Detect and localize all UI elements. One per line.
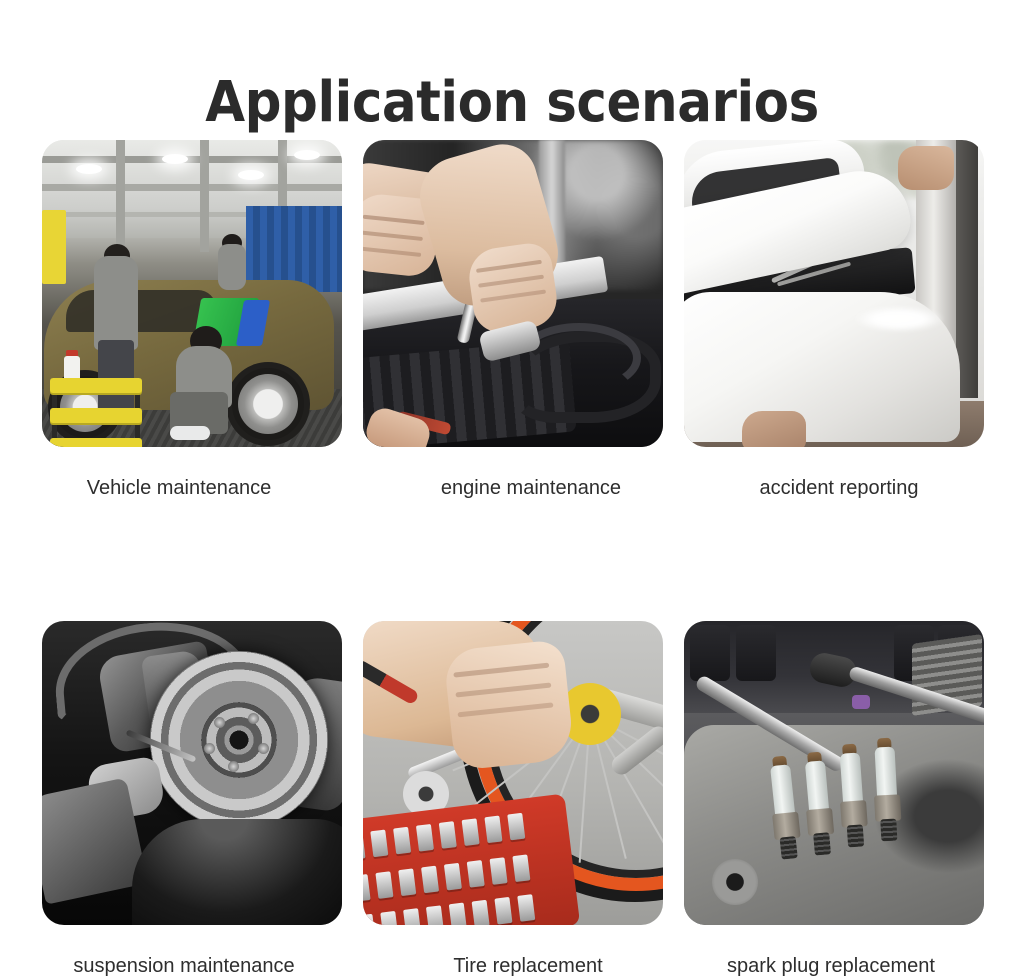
scenario-card-accident-reporting[interactable]: accident reporting — [684, 140, 984, 500]
inspector-hand-upper — [898, 146, 954, 190]
scenario-caption: spark plug replacement — [681, 954, 981, 978]
scenario-caption: Tire replacement — [378, 954, 678, 978]
technician-shoe — [170, 426, 210, 440]
spark-plug-insulator — [840, 752, 863, 803]
scenario-caption: accident reporting — [689, 476, 989, 500]
ceiling-lamp — [294, 150, 320, 160]
scenario-grid: Vehicle maintenance — [42, 140, 984, 978]
ignition-coil — [690, 625, 730, 681]
brake-disc-suspension-photo[interactable] — [42, 621, 342, 925]
ignition-coil — [736, 625, 776, 681]
page-title: Application scenarios — [41, 72, 983, 134]
scenario-card-tire-replacement[interactable]: Tire replacement — [363, 621, 663, 978]
wheel-lug — [258, 743, 269, 754]
wheel-lug — [214, 717, 225, 728]
spark-plug-thread — [813, 832, 831, 855]
scenario-row-2: suspension maintenance — [42, 621, 984, 978]
spark-plug-hex — [806, 808, 834, 836]
spark-plug-hex — [840, 800, 868, 828]
scenario-caption: suspension maintenance — [34, 954, 334, 978]
cart-shelf — [50, 438, 142, 447]
spark-plug-insulator — [805, 760, 829, 812]
yellow-tool-cart — [50, 378, 142, 447]
cart-shelf — [50, 378, 142, 393]
scenario-card-engine-maintenance[interactable]: engine maintenance — [363, 140, 663, 500]
spark-plug-thread — [847, 824, 864, 847]
ceiling-column — [116, 140, 125, 252]
spark-plug-thread — [780, 836, 798, 860]
scenario-card-suspension-maintenance[interactable]: suspension maintenance — [42, 621, 342, 978]
purple-connector — [852, 695, 870, 709]
scenario-card-vehicle-maintenance[interactable]: Vehicle maintenance — [42, 140, 342, 500]
shadowed-foreground — [132, 819, 342, 925]
suv-wheel — [226, 362, 310, 446]
spark-plug-insulator — [875, 747, 898, 798]
scenario-card-spark-plug-replacement[interactable]: spark plug replacement — [684, 621, 984, 978]
engine-bolt — [712, 859, 758, 905]
bit-row — [363, 809, 559, 860]
scenario-caption: Vehicle maintenance — [29, 476, 329, 500]
scenario-caption: engine maintenance — [381, 476, 681, 500]
dark-pillar-edge — [956, 140, 978, 398]
engine-ratchet-wrench-photo[interactable] — [363, 140, 663, 447]
ceiling-lamp — [76, 164, 102, 174]
scenario-row-1: Vehicle maintenance — [42, 140, 984, 500]
ceiling-lamp — [162, 154, 188, 164]
workshop-yellow-panel — [42, 210, 66, 284]
suv-window — [66, 290, 216, 332]
spark-plugs-engine-photo[interactable] — [684, 621, 984, 925]
open-hood-white-car-photo[interactable] — [684, 140, 984, 447]
inspector-hand-lower — [742, 411, 806, 447]
workshop-vehicle-maintenance-photo[interactable] — [42, 140, 342, 447]
right-hand — [443, 639, 575, 771]
wheel-lug — [204, 743, 215, 754]
technician-body — [218, 244, 246, 290]
spark-plug-insulator — [770, 764, 795, 816]
wheel-lug — [228, 761, 239, 772]
spark-plug-hex — [874, 794, 901, 821]
spark-plug-thread — [880, 819, 897, 842]
bicycle-wheel-ratchet-photo[interactable] — [363, 621, 663, 925]
spark-plug — [872, 746, 903, 843]
paint-highlight — [854, 306, 944, 332]
ceiling-column — [200, 140, 209, 252]
ceiling-beam — [42, 184, 342, 191]
technician-body — [94, 256, 138, 350]
ceiling-lamp — [238, 170, 264, 180]
red-socket-bit-case — [363, 793, 580, 925]
cart-shelf — [50, 408, 142, 423]
wheel-hub — [202, 703, 276, 777]
wheel-lug — [248, 713, 259, 724]
